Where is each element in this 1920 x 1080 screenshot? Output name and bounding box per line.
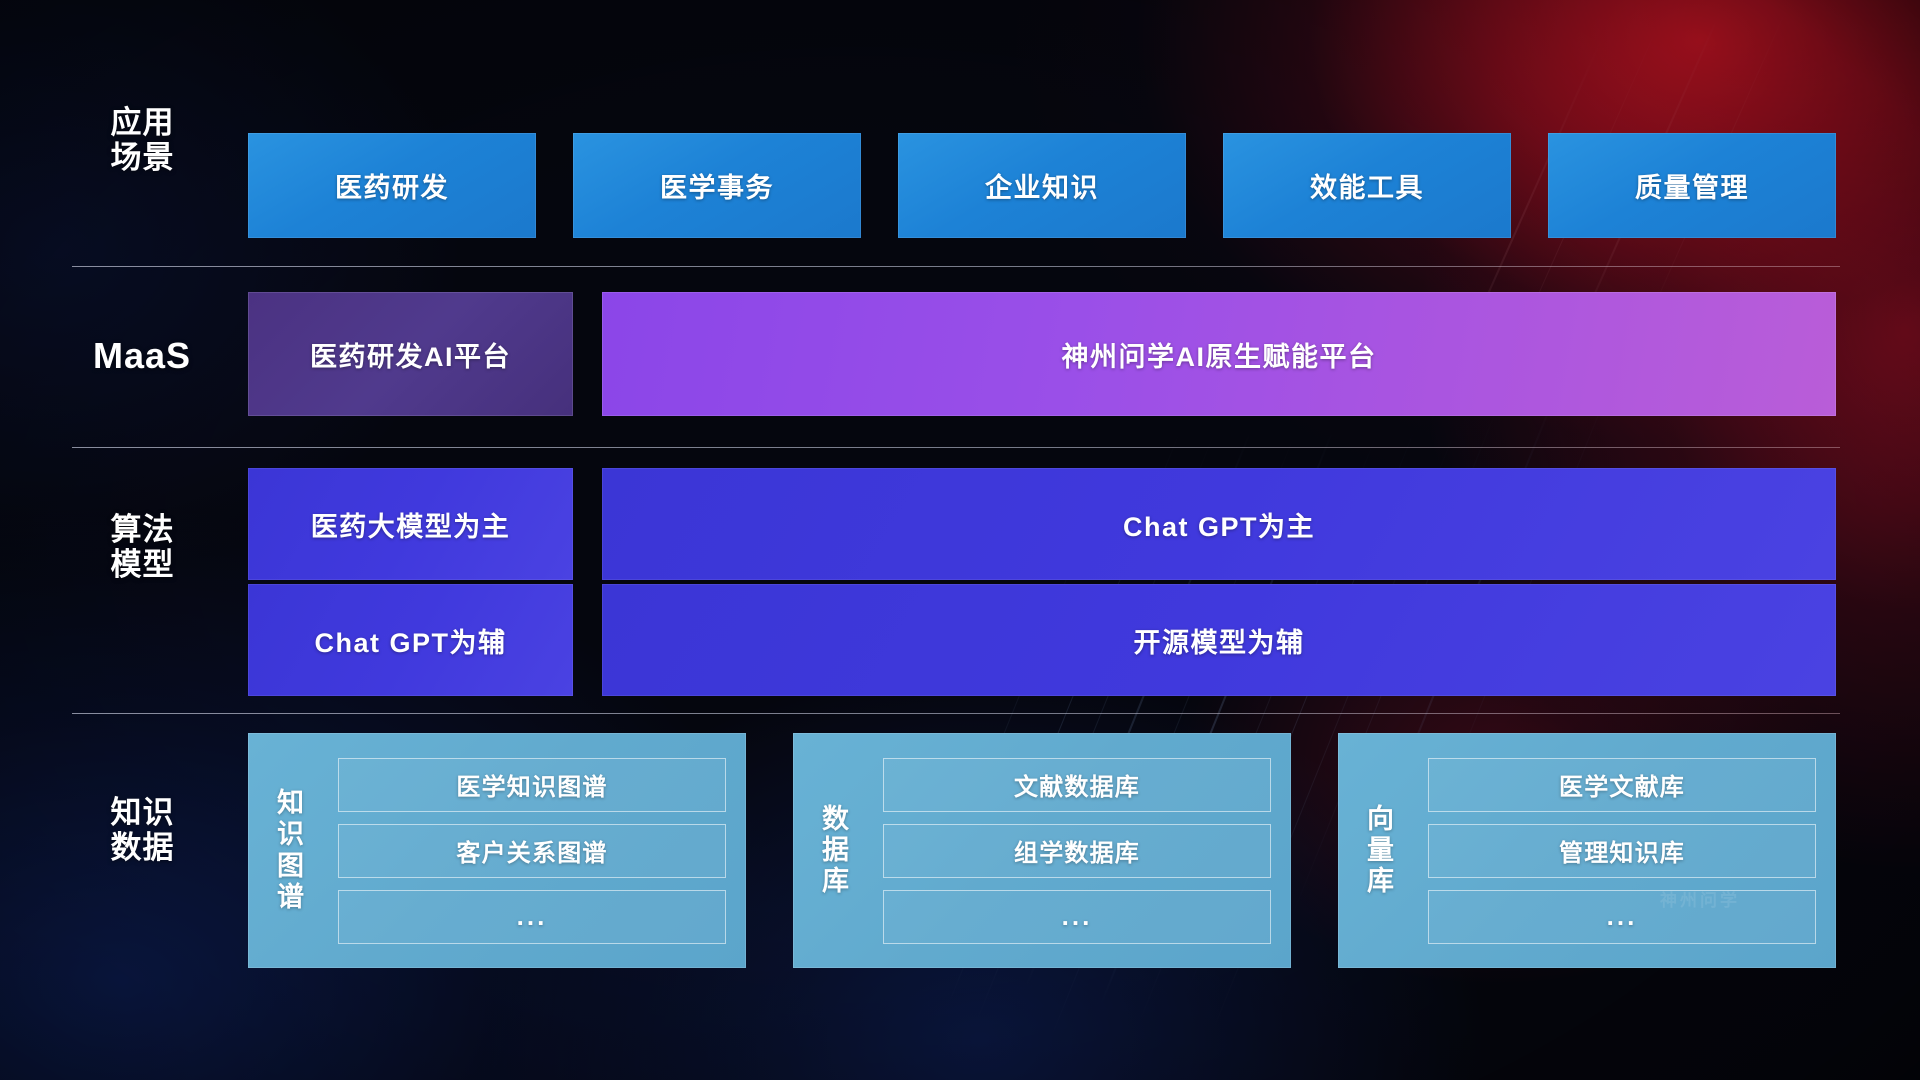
label-char: 量	[1367, 835, 1395, 866]
label-char: 向	[1367, 804, 1395, 835]
label-char: 图	[277, 851, 305, 882]
row-label-line: 数据	[80, 830, 205, 865]
label-char: 识	[277, 819, 305, 850]
row-label-algorithm-model: 算法 模型	[80, 512, 205, 583]
row-label-line: 场景	[80, 140, 205, 175]
divider-after-application-scenarios	[72, 266, 1840, 267]
label-char: 谱	[277, 882, 305, 913]
knowledge-item[interactable]: 组学数据库	[883, 824, 1271, 878]
architecture-diagram: 应用 场景 医药研发 医学事务 企业知识 效能工具 质量管理 MaaS 医药研发…	[0, 0, 1920, 1080]
knowledge-group-vector-store[interactable]: 向 量 库 医学文献库 管理知识库 ...	[1338, 733, 1836, 968]
knowledge-item-more[interactable]: ...	[883, 890, 1271, 944]
row-label-maas: MaaS	[72, 335, 212, 376]
label-char: 库	[822, 866, 850, 897]
knowledge-group-label-knowledge-graph: 知 识 图 谱	[248, 733, 334, 968]
label-char: 据	[822, 835, 850, 866]
knowledge-item[interactable]: 医学文献库	[1428, 758, 1816, 812]
row-label-application-scenarios: 应用 场景	[80, 105, 205, 176]
algorithm-box-chatgpt-primary[interactable]: Chat GPT为主	[602, 468, 1836, 580]
algorithm-box-chatgpt-auxiliary[interactable]: Chat GPT为辅	[248, 584, 573, 696]
algorithm-box-open-source-auxiliary[interactable]: 开源模型为辅	[602, 584, 1836, 696]
label-char: 库	[1367, 866, 1395, 897]
label-char: 数	[822, 804, 850, 835]
row-label-line: 应用	[80, 105, 205, 140]
algorithm-box-medicine-large-model-primary[interactable]: 医药大模型为主	[248, 468, 573, 580]
label-char: 知	[277, 788, 305, 819]
app-scenario-box-medical-affairs[interactable]: 医学事务	[573, 133, 861, 238]
knowledge-group-items-database: 文献数据库 组学数据库 ...	[879, 733, 1291, 968]
maas-box-medicine-rd-ai-platform[interactable]: 医药研发AI平台	[248, 292, 573, 416]
app-scenario-box-enterprise-knowledge[interactable]: 企业知识	[898, 133, 1186, 238]
row-label-knowledge-data: 知识 数据	[80, 795, 205, 866]
row-label-line: MaaS	[72, 335, 212, 376]
knowledge-item[interactable]: 客户关系图谱	[338, 824, 726, 878]
knowledge-group-label-database: 数 据 库	[793, 733, 879, 968]
knowledge-item-more[interactable]: ...	[1428, 890, 1816, 944]
watermark: 神州问学	[1660, 886, 1740, 911]
knowledge-item[interactable]: 医学知识图谱	[338, 758, 726, 812]
divider-after-maas	[72, 447, 1840, 448]
knowledge-item-more[interactable]: ...	[338, 890, 726, 944]
app-scenario-box-efficiency-tools[interactable]: 效能工具	[1223, 133, 1511, 238]
app-scenario-box-medicine-rd[interactable]: 医药研发	[248, 133, 536, 238]
knowledge-group-items-vector-store: 医学文献库 管理知识库 ...	[1424, 733, 1836, 968]
knowledge-group-database[interactable]: 数 据 库 文献数据库 组学数据库 ...	[793, 733, 1291, 968]
row-label-line: 算法	[80, 512, 205, 547]
knowledge-item[interactable]: 文献数据库	[883, 758, 1271, 812]
maas-box-shenzhou-wenxue-platform[interactable]: 神州问学AI原生赋能平台	[602, 292, 1836, 416]
app-scenario-box-quality-management[interactable]: 质量管理	[1548, 133, 1836, 238]
knowledge-group-knowledge-graph[interactable]: 知 识 图 谱 医学知识图谱 客户关系图谱 ...	[248, 733, 746, 968]
knowledge-item[interactable]: 管理知识库	[1428, 824, 1816, 878]
row-label-line: 知识	[80, 795, 205, 830]
knowledge-group-label-vector-store: 向 量 库	[1338, 733, 1424, 968]
knowledge-group-items-knowledge-graph: 医学知识图谱 客户关系图谱 ...	[334, 733, 746, 968]
row-label-line: 模型	[80, 547, 205, 582]
divider-after-algorithm-model	[72, 713, 1840, 714]
